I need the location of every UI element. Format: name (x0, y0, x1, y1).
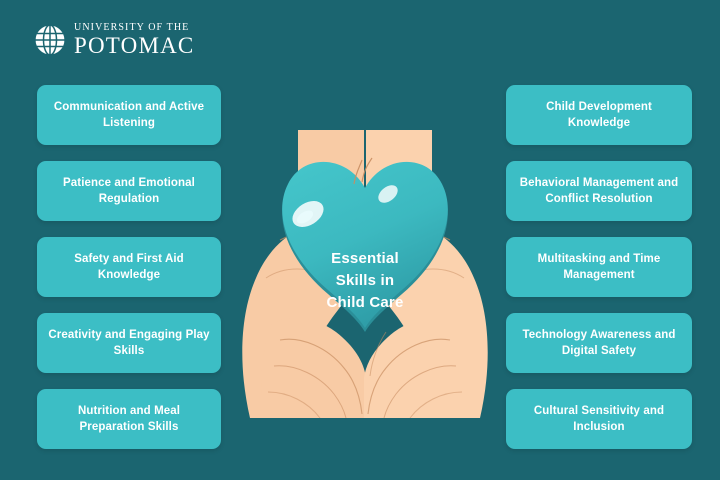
skill-card-label: Technology Awareness and Digital Safety (514, 327, 684, 360)
skill-card-label: Safety and First Aid Knowledge (45, 251, 213, 284)
skill-card-label: Patience and Emotional Regulation (45, 175, 213, 208)
skill-card-label: Behavioral Management and Conflict Resol… (514, 175, 684, 208)
logo-wordmark: UNIVERSITY OF THE POTOMAC (74, 22, 194, 57)
logo-line-university: UNIVERSITY OF THE (74, 23, 194, 33)
skill-card-label: Creativity and Engaging Play Skills (45, 327, 213, 360)
skill-card-nutrition[interactable]: Nutrition and Meal Preparation Skills (37, 389, 221, 449)
left-hand-fingers (261, 318, 366, 418)
skill-card-label: Communication and Active Listening (45, 99, 213, 132)
skill-card-label: Nutrition and Meal Preparation Skills (45, 403, 213, 436)
skill-card-multitasking[interactable]: Multitasking and Time Management (506, 237, 692, 297)
skill-card-safety[interactable]: Safety and First Aid Knowledge (37, 237, 221, 297)
skill-card-behavioral-management[interactable]: Behavioral Management and Conflict Resol… (506, 161, 692, 221)
skill-card-cultural-sensitivity[interactable]: Cultural Sensitivity and Inclusion (506, 389, 692, 449)
skill-card-label: Child Development Knowledge (514, 99, 684, 132)
infographic-canvas: UNIVERSITY OF THE POTOMAC Communication … (0, 0, 720, 480)
skill-card-technology-awareness[interactable]: Technology Awareness and Digital Safety (506, 313, 692, 373)
skill-card-label: Cultural Sensitivity and Inclusion (514, 403, 684, 436)
skill-card-patience[interactable]: Patience and Emotional Regulation (37, 161, 221, 221)
skill-card-label: Multitasking and Time Management (514, 251, 684, 284)
hands-holding-heart-illustration (236, 118, 494, 418)
university-logo: UNIVERSITY OF THE POTOMAC (33, 22, 194, 57)
skill-card-creativity[interactable]: Creativity and Engaging Play Skills (37, 313, 221, 373)
logo-line-potomac: POTOMAC (74, 34, 194, 57)
skill-card-communication[interactable]: Communication and Active Listening (37, 85, 221, 145)
skill-card-child-development[interactable]: Child Development Knowledge (506, 85, 692, 145)
right-hand-fingers (364, 318, 469, 418)
globe-icon (33, 23, 67, 57)
